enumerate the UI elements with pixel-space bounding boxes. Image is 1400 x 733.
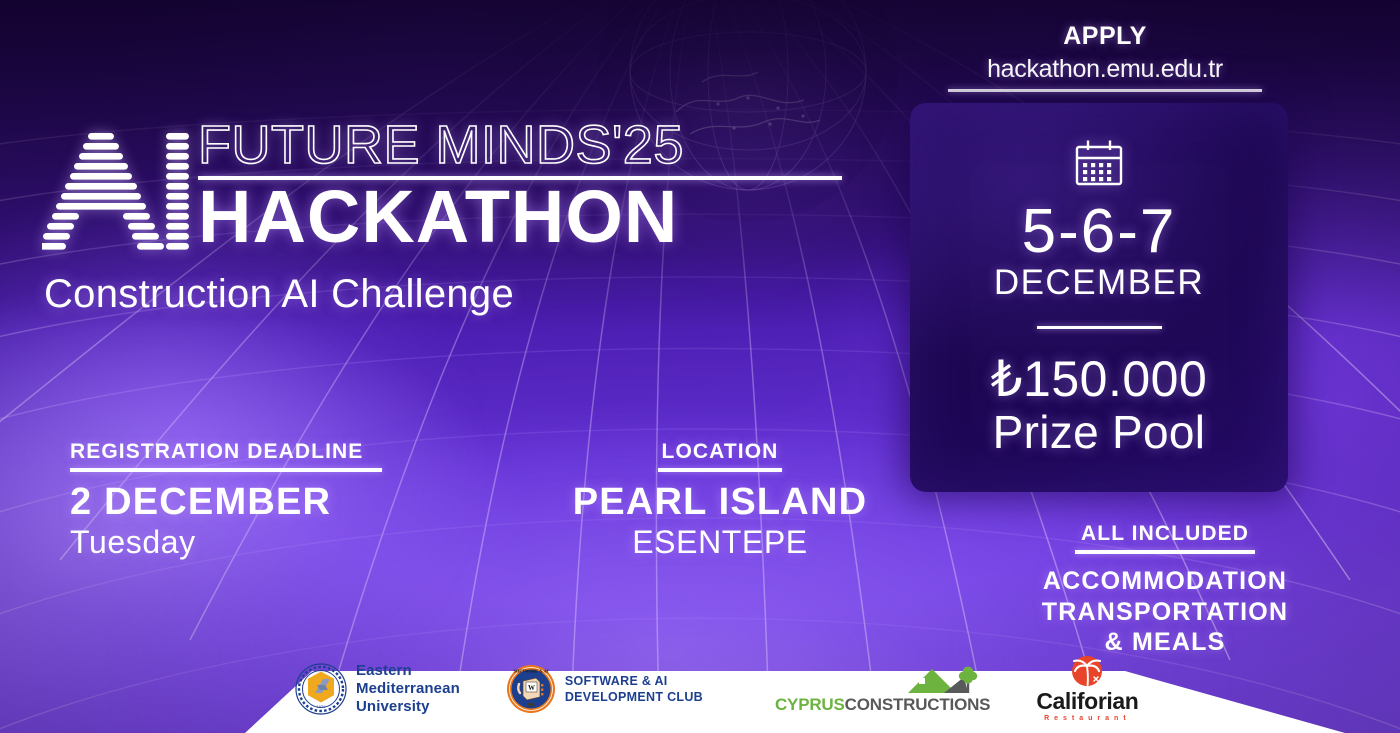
all-included-block: ALL INCLUDED ACCOMMODATION TRANSPORTATIO… [1000,522,1330,658]
event-month: DECEMBER [994,265,1204,300]
sponsor-logos-row: 1979 Eastern Mediterranean University [295,645,1155,733]
club-line-2: DEVELOPMENT CLUB [565,689,703,705]
apply-url[interactable]: hackathon.emu.edu.tr [940,55,1270,84]
included-underline [1075,550,1255,554]
included-heading: ALL INCLUDED [1000,522,1330,546]
included-item: TRANSPORTATION [1000,597,1330,628]
constructions-word: CONSTRUCTIONS [845,695,991,715]
registration-deadline-block: REGISTRATION DEADLINE 2 DECEMBER Tuesday [70,440,382,561]
event-poster: APPLY hackathon.emu.edu.tr [0,0,1400,733]
prize-label: Prize Pool [993,408,1206,456]
title-future-minds: FUTURE MINDS'25 [198,118,842,172]
title-subtitle: Construction AI Challenge [44,272,842,317]
sponsor-cyprus-constructions: CYPRUS CONSTRUCTIONS [775,663,990,715]
event-dates: 5-6-7 [1022,201,1177,263]
location-heading: LOCATION [500,440,940,464]
title-lockup: FUTURE MINDS'25 HACKATHON Construction A… [42,118,842,317]
calendar-icon [1073,139,1125,187]
location-underline [658,468,782,472]
sponsor-software-ai-development-club: W SOFTWARE & AI SOFTWARE & AI DEVELOPMEN… [506,664,703,714]
apply-block: APPLY hackathon.emu.edu.tr [940,22,1270,92]
deadline-heading: REGISTRATION DEADLINE [70,440,382,464]
included-list: ACCOMMODATION TRANSPORTATION & MEALS [1000,566,1330,658]
emu-seal-icon: 1979 [295,663,347,715]
califorian-name: Califorian [1036,690,1138,713]
location-block: LOCATION PEARL ISLAND ESENTEPE [500,440,940,561]
emu-line-1: Eastern [356,662,460,680]
emu-line-3: University [356,698,460,716]
cyprus-word: CYPRUS [775,695,845,715]
apply-underline [948,89,1262,92]
emu-name: Eastern Mediterranean University [356,662,460,715]
svg-text:W: W [528,684,535,692]
deadline-weekday: Tuesday [70,524,382,561]
location-area: ESENTEPE [500,524,940,561]
apply-label: APPLY [940,22,1270,51]
sponsor-eastern-mediterranean-university: 1979 Eastern Mediterranean University [295,662,460,715]
location-venue: PEARL ISLAND [500,483,940,523]
svg-text:1979: 1979 [317,704,327,709]
house-tree-icon [906,663,984,697]
ai-monogram-icon [42,129,192,256]
deadline-date: 2 DECEMBER [70,483,382,523]
included-item: ACCOMMODATION [1000,566,1330,597]
svg-text:SOFTWARE & AI: SOFTWARE & AI [513,669,548,674]
event-info-card: 5-6-7 DECEMBER ₺150.000 Prize Pool [910,103,1288,492]
club-line-1: SOFTWARE & AI [565,673,703,689]
palm-tree-icon [1065,656,1109,690]
title-hackathon: HACKATHON [198,181,842,254]
sponsor-califorian-restaurant: Califorian Restaurant [1036,656,1138,722]
emu-line-2: Mediterranean [356,680,460,698]
califorian-sub: Restaurant [1044,715,1131,722]
club-name: SOFTWARE & AI DEVELOPMENT CLUB [565,673,703,706]
prize-amount: ₺150.000 [991,353,1208,406]
card-divider [1037,326,1162,329]
deadline-underline [70,468,382,472]
club-seal-icon: W SOFTWARE & AI [506,664,556,714]
